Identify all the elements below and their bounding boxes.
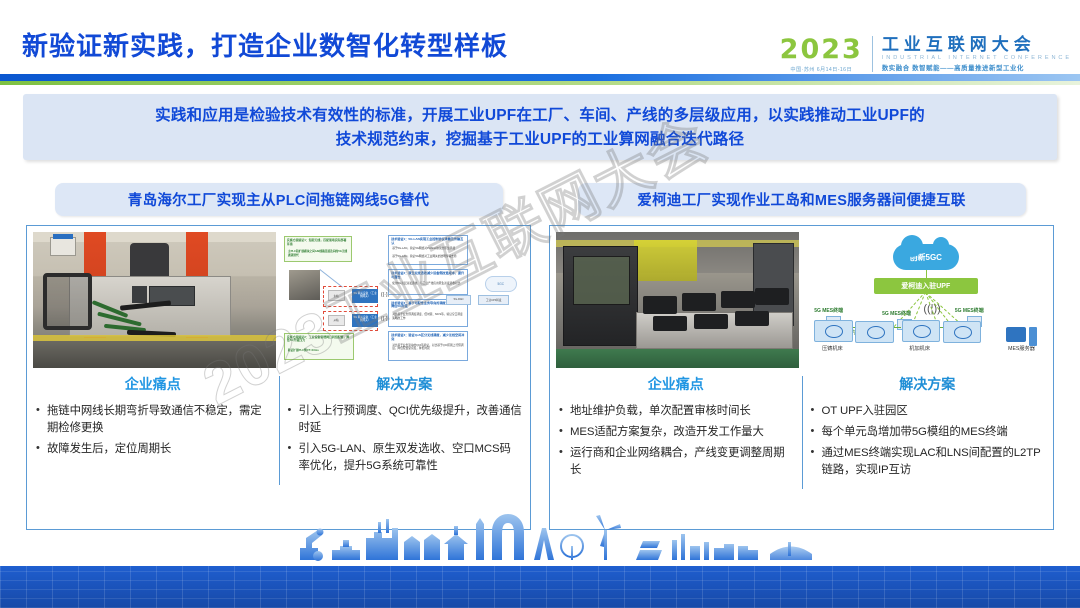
machine-node-2: [855, 321, 891, 352]
list-item: 引入5G-LAN、原生双发选收、空口MCS码率优化，提升5G系统可靠性: [287, 441, 523, 475]
machine-node-1: 压铸机床: [814, 320, 850, 352]
case-heading-haier: 青岛海尔工厂实现主从PLC间拖链网线5G替代: [55, 183, 503, 216]
case-body-haier: 实施方案验证1：短距无线，匹配现场实际部署环境 主PLC和扩展模块之间A/B线路…: [26, 225, 531, 530]
logo-text-block: 工业互联网大会 INDUSTRIAL INTERNET CONFERENCE 数…: [873, 36, 1072, 73]
tower-icon: [1029, 327, 1038, 346]
ikd-workshop-photo: [556, 232, 799, 368]
diagram-node-ran: 5G-RAN: [446, 295, 470, 306]
case-body-ikd: 创新5GC 爱柯迪入驻UPF ((¦)): [549, 225, 1054, 530]
diagram-plan-note-2-text: 验证扩展PLC侧CT<10ms: [288, 349, 351, 353]
banner-line-1: 实践和应用是检验技术有效性的标准，开展工业UPF在工厂、车间、产线的多层级应用，…: [155, 104, 925, 128]
statement-banner: 实践和应用是检验技术有效性的标准，开展工业UPF在工厂、车间、产线的多层级应用，…: [23, 94, 1057, 160]
node-caption-1: 压铸机床: [814, 345, 850, 352]
mes-server-node: MES服务器: [1006, 327, 1038, 352]
list-item: 通过MES终端实现LAC和LNS间配置的L2TP链路，实现IP互访: [810, 445, 1046, 479]
case-panel-ikd: 爱柯迪工厂实现作业工岛和MES服务器间便捷互联: [549, 183, 1054, 530]
list-item: OT UPF入驻园区: [810, 403, 1046, 420]
bottom-grid-band: [0, 566, 1080, 608]
pain-title: 企业痛点: [558, 374, 794, 394]
logo-year: 2023: [780, 36, 863, 63]
diagram-node-slave: 从站: [328, 315, 345, 326]
case-heading-ikd: 爱柯迪工厂实现作业工岛和MES服务器间便捷互联: [578, 183, 1026, 216]
diagram-cloud-5gc: 5GC: [485, 276, 517, 292]
pain-title: 企业痛点: [35, 374, 271, 394]
columns-ikd: 企业痛点 地址维护负载，单次配置审核时间长 MES适配方案复杂，改造开发工作量大…: [550, 374, 1053, 483]
diagram-validation-4-item-1: 对比基于业务流动的QCI等验证，对比基于QCI区别上行预调度，降低配置复杂度，降…: [392, 344, 465, 351]
solution-list: 引入上行预调度、QCI优先级提升，改善通信时延 引入5G-LAN、原生双发选收、…: [287, 403, 523, 475]
columns-haier: 企业痛点 拖链中网线长期弯折导致通信不稳定，需定期检修更换 故障发生后，定位周期…: [27, 374, 530, 479]
cloud-5gc: 创新5GC: [893, 244, 959, 270]
diagram-validation-2-item-1: 使用5G双层双发选收，与工业产线应用原生双发选收对比: [392, 282, 465, 286]
machine-node-3: 机加机床: [902, 320, 938, 352]
logo-year-subtitle: 中国·苏州 6月14日-16日: [790, 66, 852, 73]
solution-title: 解决方案: [287, 374, 523, 394]
mes-terminal-label-3: 5G MES终端: [955, 307, 984, 314]
diagram-node-gateway-2: 5G 网关设备 （工业侧网关）: [352, 314, 379, 328]
diagram-validation-3-item-1: 对比基于业务预调度调度、低时延、MCS等，验证空口调度策略的工作: [392, 313, 465, 320]
header-green-rule: [0, 81, 1080, 85]
conference-logo: 2023 中国·苏州 6月14日-16日 工业互联网大会 INDUSTRIAL …: [780, 32, 1072, 76]
pain-list: 拖链中网线长期弯折导致通信不稳定，需定期检修更换 故障发生后，定位周期长: [35, 403, 271, 458]
case-panel-haier: 青岛海尔工厂实现主从PLC间拖链网线5G替代: [26, 183, 531, 530]
case-heading-label: 爱柯迪工厂实现作业工岛和MES服务器间便捷互联: [637, 189, 965, 210]
diagram-plan-note-1-text: 主PLC和扩展模块之间A/B线路连接及间的5G无线通道替代: [288, 250, 349, 257]
diagram-plan-note-1-title: 实施方案验证1：短距无线，匹配现场实际部署环境: [287, 239, 349, 247]
skyline-decoration: [0, 514, 1080, 570]
list-item: 运行商和企业网络耦合，产线变更调整周期长: [558, 445, 794, 479]
pain-list: 地址维护负载，单次配置审核时间长 MES适配方案复杂，改造开发工作量大 运行商和…: [558, 403, 794, 479]
pain-column-haier: 企业痛点 拖链中网线长期弯折导致通信不稳定，需定期检修更换 故障发生后，定位周期…: [27, 374, 279, 479]
haier-5g-architecture-diagram: 实施方案验证1：短距无线，匹配现场实际部署环境 主PLC和扩展模块之间A/B线路…: [282, 232, 525, 368]
node-caption-2: 机加机床: [902, 345, 938, 352]
skyline-svg: [0, 514, 1080, 570]
haier-factory-plc-machine-photo: [33, 232, 276, 368]
list-item: 每个单元岛增加带5G模组的MES终端: [810, 424, 1046, 441]
diagram-node-gateway-1: 5G 网关设备 （工业侧网关）: [352, 289, 379, 303]
diagram-validation-4-title: 技术验证4：验证QoS区分无线调度，减少无线空间冲突: [391, 334, 465, 342]
mes-terminal-label-2: 5G MES终端: [882, 310, 911, 317]
logo-name-cn: 工业互联网大会: [882, 36, 1072, 54]
diagram-node-master: 主站: [328, 290, 345, 301]
banner-line-2: 技术规范约束，挖掘基于工业UPF的工业算网融合迭代路径: [336, 128, 744, 152]
node-caption-3: MES服务器: [1006, 345, 1038, 352]
case-heading-label: 青岛海尔工厂实现主从PLC间拖链网线5G替代: [128, 189, 429, 210]
list-item: 地址维护负载，单次配置审核时间长: [558, 403, 794, 420]
list-item: MES适配方案复杂，改造开发工作量大: [558, 424, 794, 441]
logo-name-en: INDUSTRIAL INTERNET CONFERENCE: [882, 55, 1072, 61]
monitor-icon: [1006, 327, 1026, 342]
solution-title: 解决方案: [810, 374, 1046, 394]
machine-node-4: [943, 321, 979, 352]
solution-list: OT UPF入驻园区 每个单元岛增加带5G模组的MES终端 通过MES终端实现L…: [810, 403, 1046, 479]
solution-column-haier: 解决方案 引入上行预调度、QCI优先级提升，改善通信时延 引入5G-LAN、原生…: [279, 374, 531, 479]
list-item: 故障发生后，定位周期长: [35, 441, 271, 458]
diagram-validation-1-item-1: 基于5G-LAN，验证5G网络对Profinet协议的原生承载: [392, 247, 465, 251]
page-title: 新验证新实践，打造企业数智化转型样板: [22, 26, 508, 63]
diagram-plan-note-2-title: 实施方案验证2：工业设备新增网口同组配置，降低5G升级压力: [287, 336, 351, 344]
slide: 新验证新实践，打造企业数智化转型样板 2023 中国·苏州 6月14日-16日 …: [0, 0, 1080, 608]
mes-terminal-label-1: 5G MES终端: [814, 307, 843, 314]
diagram-validation-1-title: 技术验证1：5G-LAN实现工业控制协议承载及传输互认: [391, 238, 465, 246]
pain-column-ikd: 企业痛点 地址维护负载，单次配置审核时间长 MES适配方案复杂，改造开发工作量大…: [550, 374, 802, 483]
ikd-5g-network-diagram: 创新5GC 爱柯迪入驻UPF ((¦)): [805, 232, 1048, 368]
logo-slogan: 数实融合 数智赋能——高质量推进新型工业化: [882, 63, 1072, 72]
diagram-validation-2-title: 技术验证2：原生双发选收减少设备侧改造成本，提升可靠性: [391, 272, 465, 280]
list-item: 引入上行预调度、QCI优先级提升，改善通信时延: [287, 403, 523, 437]
diagram-validation-1-item-2: 基于5G-LAN，验证5G网络对工业网关的透明传输支持: [392, 255, 465, 259]
logo-year-block: 2023 中国·苏州 6月14日-16日: [780, 36, 872, 73]
media-row-ikd: 创新5GC 爱柯迪入驻UPF ((¦)): [550, 226, 1053, 368]
diagram-node-upf: 工业UPF转发: [478, 295, 510, 306]
list-item: 拖链中网线长期弯折导致通信不稳定，需定期检修更换: [35, 403, 271, 437]
media-row-haier: 实施方案验证1：短距无线，匹配现场实际部署环境 主PLC和扩展模块之间A/B线路…: [27, 226, 530, 368]
solution-column-ikd: 解决方案 OT UPF入驻园区 每个单元岛增加带5G模组的MES终端 通过MES…: [802, 374, 1054, 483]
